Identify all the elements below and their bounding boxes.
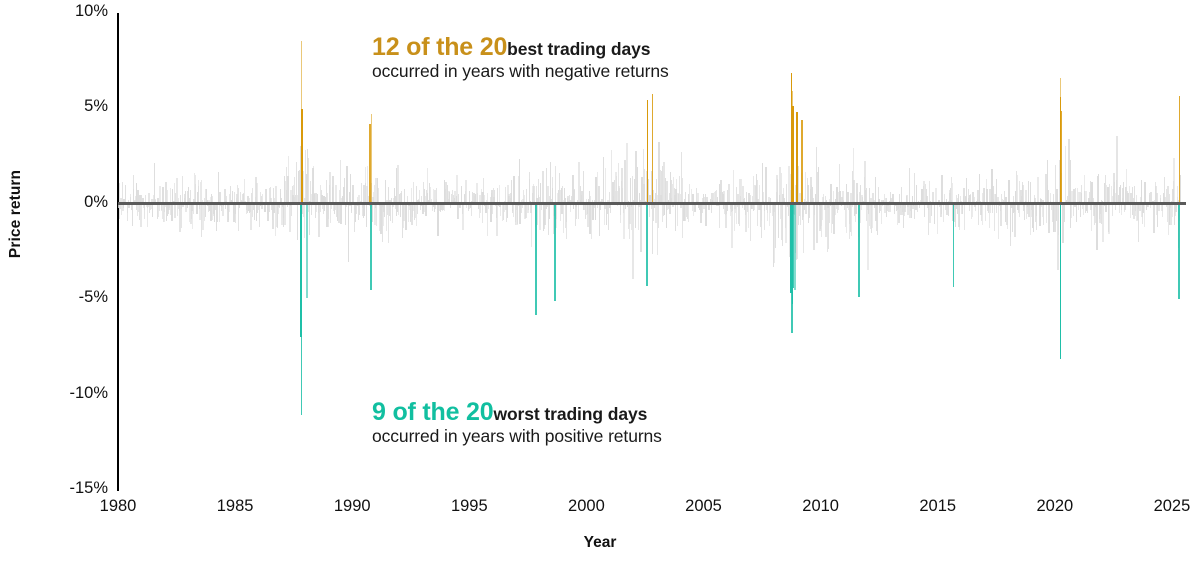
return-bar	[578, 204, 579, 219]
return-bar	[1007, 204, 1008, 229]
return-bar	[914, 173, 915, 204]
return-bar	[1096, 204, 1097, 250]
annotation-worst-subject: worst trading days	[493, 404, 647, 424]
return-bar	[719, 204, 720, 228]
return-bar	[1173, 158, 1174, 204]
return-bar	[519, 159, 520, 204]
return-bar	[1116, 136, 1117, 204]
return-bar	[937, 204, 938, 234]
return-bar	[669, 204, 670, 215]
return-bar	[413, 182, 414, 204]
return-bar	[344, 178, 345, 204]
y-tick-label: 0%	[18, 193, 108, 212]
return-bar	[941, 175, 942, 204]
x-tick-label: 2025	[1127, 497, 1200, 516]
return-bar	[677, 204, 678, 227]
return-bar	[259, 204, 260, 227]
return-bar	[948, 204, 949, 216]
return-bar	[982, 204, 983, 225]
return-bar	[297, 204, 298, 240]
return-bar	[605, 168, 606, 204]
worst-day-bar	[370, 204, 372, 290]
return-bar	[638, 204, 639, 231]
return-bar	[162, 187, 163, 204]
return-bar	[901, 187, 902, 204]
return-bar	[174, 204, 175, 218]
return-bar	[972, 204, 973, 217]
best-day-bar	[793, 119, 795, 203]
return-bar	[376, 204, 377, 226]
return-bar	[786, 184, 787, 204]
best-day-bar	[647, 100, 649, 204]
return-bar	[635, 204, 636, 228]
annotation-worst-detail: occurred in years with positive returns	[372, 426, 662, 446]
return-bar	[529, 179, 530, 203]
y-tick-label: -10%	[18, 384, 108, 403]
x-tick-label: 2015	[893, 497, 983, 516]
return-bar	[181, 204, 182, 228]
return-bar	[583, 171, 584, 204]
return-bar	[807, 185, 808, 204]
return-bar	[816, 204, 817, 243]
return-bar	[1091, 204, 1092, 231]
return-bar	[1102, 204, 1103, 242]
x-tick-label: 2010	[776, 497, 866, 516]
return-bar	[765, 167, 766, 204]
best-day-bar	[1060, 111, 1062, 204]
x-tick-label: 1995	[424, 497, 514, 516]
worst-day-bar	[554, 204, 556, 301]
return-bar	[705, 204, 706, 227]
best-day-bar	[301, 109, 303, 204]
worst-day-bar	[1178, 204, 1180, 299]
return-bar	[1180, 175, 1181, 204]
return-bar	[348, 204, 349, 262]
return-bar	[775, 204, 776, 248]
return-bar	[809, 204, 810, 218]
return-bar	[505, 187, 506, 204]
worst-day-bar	[953, 204, 955, 287]
return-bar	[931, 204, 932, 216]
return-bar	[140, 204, 141, 228]
return-bar	[1064, 204, 1065, 222]
return-bar	[405, 204, 406, 230]
y-tick-label: 10%	[18, 2, 108, 21]
return-bar	[881, 204, 882, 224]
return-bar	[1046, 204, 1047, 223]
annotation-best-subject: best trading days	[507, 39, 650, 59]
worst-day-bar	[646, 204, 648, 286]
best-day-bar	[1179, 96, 1181, 204]
return-bar	[909, 168, 910, 204]
return-bar	[288, 156, 289, 204]
return-bar	[682, 178, 683, 204]
return-bar	[332, 176, 333, 203]
return-bar	[1019, 204, 1020, 217]
annotation-best-days: 12 of the 20best trading days occurred i…	[372, 34, 669, 84]
return-bar	[152, 204, 153, 217]
worst-day-bar	[1060, 204, 1062, 359]
return-bar	[275, 186, 276, 204]
return-bar	[877, 204, 878, 235]
return-bar	[304, 204, 305, 238]
worst-day-bar	[306, 204, 308, 298]
return-bar	[555, 166, 556, 203]
return-bar	[952, 183, 953, 203]
best-day-bar	[371, 114, 373, 203]
worst-day-bar	[301, 204, 303, 415]
return-bar	[542, 171, 543, 204]
y-tick-label: 5%	[18, 97, 108, 116]
return-bar	[943, 204, 944, 222]
worst-day-bar	[858, 204, 860, 297]
return-bar	[154, 163, 155, 204]
return-bar	[739, 204, 740, 227]
return-bar	[688, 204, 689, 222]
return-bar	[566, 204, 567, 239]
return-bar	[853, 180, 854, 204]
y-tick-label: -5%	[18, 288, 108, 307]
return-bar	[465, 180, 466, 204]
zero-line	[118, 202, 1186, 205]
return-bar	[511, 180, 512, 204]
return-bar	[284, 204, 285, 225]
return-bar	[1017, 175, 1018, 204]
return-bar	[549, 204, 550, 220]
y-tick-label: -15%	[18, 479, 108, 498]
worst-day-bar	[794, 204, 796, 290]
return-bar	[462, 204, 463, 230]
return-bar	[934, 204, 935, 224]
return-bar	[1022, 185, 1023, 204]
return-bar	[171, 204, 172, 221]
return-bar	[335, 185, 336, 204]
return-bar	[132, 204, 133, 226]
return-bar	[471, 204, 472, 217]
return-bar	[309, 204, 310, 236]
return-bar	[1108, 204, 1109, 234]
best-day-bar	[652, 94, 654, 204]
return-bar	[366, 204, 367, 227]
return-bar	[1036, 204, 1037, 230]
return-bar	[291, 204, 292, 216]
return-bar	[361, 183, 362, 204]
x-tick-label: 1985	[190, 497, 280, 516]
return-bar	[649, 204, 650, 217]
return-bar	[205, 204, 206, 217]
return-bar	[658, 204, 659, 229]
best-day-bar	[796, 112, 798, 204]
return-bar	[235, 204, 236, 223]
return-bar	[761, 204, 762, 222]
return-bar	[193, 204, 194, 215]
worst-day-bar	[535, 204, 537, 315]
return-bar	[924, 204, 925, 217]
return-bar	[851, 204, 852, 237]
return-bar	[1098, 174, 1099, 204]
return-bar	[307, 158, 308, 204]
return-bar	[728, 184, 729, 204]
return-bar	[750, 204, 751, 241]
best-day-bar	[801, 120, 803, 204]
return-bar	[1172, 204, 1173, 217]
return-bar	[1043, 204, 1044, 226]
x-tick-label: 1990	[307, 497, 397, 516]
annotation-best-count: 12 of the 20	[372, 33, 507, 61]
return-bar	[1141, 180, 1142, 203]
return-bar	[979, 174, 980, 204]
return-bar	[785, 204, 786, 243]
annotation-worst-days: 9 of the 20worst trading days occurred i…	[372, 399, 662, 449]
return-bar	[531, 204, 532, 247]
return-bar	[640, 204, 641, 252]
return-bar	[733, 170, 734, 204]
return-bar	[830, 184, 831, 204]
return-bar	[540, 183, 541, 204]
return-bar	[846, 204, 847, 233]
return-bar	[1037, 177, 1038, 204]
return-bar	[978, 204, 979, 225]
return-bar	[632, 204, 633, 279]
return-bar	[644, 169, 645, 204]
annotation-best-detail: occurred in years with negative returns	[372, 61, 669, 81]
return-bar	[1030, 182, 1031, 203]
return-bar	[196, 204, 197, 214]
return-bar	[803, 204, 804, 253]
return-bar	[620, 204, 621, 215]
x-tick-label: 1980	[73, 497, 163, 516]
return-bar	[814, 204, 815, 215]
return-bar	[1065, 146, 1066, 204]
return-bar	[256, 183, 257, 204]
x-tick-label: 2005	[659, 497, 749, 516]
return-bar	[875, 177, 876, 204]
return-bar	[125, 185, 126, 204]
y-axis-ticks: 10%5%0%-5%-10%-15%	[0, 0, 108, 566]
x-tick-label: 2000	[541, 497, 631, 516]
price-return-chart: Price return 10%5%0%-5%-10%-15% 19801985…	[0, 0, 1200, 566]
return-bar	[964, 204, 965, 230]
return-bar	[311, 204, 312, 215]
return-bar	[563, 204, 564, 233]
return-bar	[537, 204, 538, 226]
return-bar	[341, 204, 342, 221]
return-bar	[759, 185, 760, 204]
return-bar	[1014, 204, 1015, 238]
return-bar	[782, 204, 783, 246]
return-bar	[552, 177, 553, 204]
return-bar	[496, 204, 497, 236]
return-bar	[359, 204, 360, 215]
annotation-worst-count: 9 of the 20	[372, 398, 493, 426]
return-bar	[1153, 204, 1154, 233]
return-bar	[1039, 204, 1040, 226]
return-bar	[482, 204, 483, 223]
return-bar	[517, 204, 518, 224]
return-bar	[1000, 204, 1001, 226]
return-bar	[1112, 204, 1113, 216]
x-axis-label: Year	[0, 534, 1200, 552]
return-bar	[507, 204, 508, 218]
x-tick-label: 2020	[1010, 497, 1100, 516]
return-bar	[499, 185, 500, 204]
return-bar	[872, 204, 873, 228]
return-bar	[1162, 204, 1163, 217]
return-bar	[626, 143, 627, 204]
return-bar	[556, 204, 557, 219]
return-bar	[822, 204, 823, 220]
return-bar	[425, 204, 426, 216]
return-bar	[329, 172, 330, 204]
